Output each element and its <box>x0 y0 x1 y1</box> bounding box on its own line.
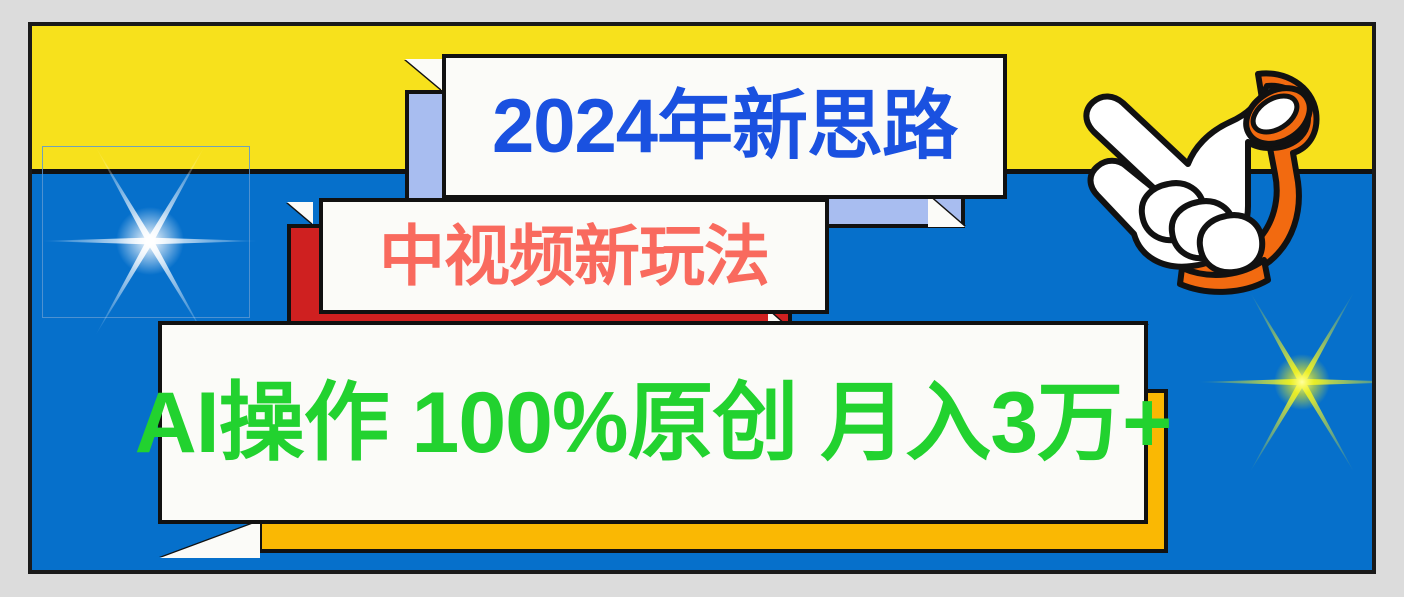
banner-new-idea-fold-top-left <box>405 59 442 90</box>
banner-new-play-fold-top-left <box>287 202 313 224</box>
yellow-sparkle-icon <box>1192 282 1376 482</box>
banner-new-idea-card: 2024年新思路 <box>442 54 1007 199</box>
banner-ai-income: AI操作 100%原创 月入3万+ <box>158 321 1168 561</box>
pointing-hand-icon <box>1062 56 1330 296</box>
banner-ai-income-fold-bottom-left <box>160 521 260 558</box>
banner-ai-income-card: AI操作 100%原创 月入3万+ <box>158 321 1148 524</box>
banner-new-play-card: 中视频新玩法 <box>319 198 829 314</box>
banner-new-idea-text: 2024年新思路 <box>492 89 957 165</box>
banner-new-idea-fold-bottom-right <box>928 195 965 227</box>
poster-canvas: 2024年新思路 中视频新玩法 AI操作 100%原创 月入3万+ <box>28 22 1376 574</box>
banner-new-play: 中视频新玩法 <box>287 198 847 338</box>
poster-frame: 2024年新思路 中视频新玩法 AI操作 100%原创 月入3万+ <box>0 0 1404 597</box>
banner-ai-income-text: AI操作 100%原创 月入3万+ <box>135 380 1172 466</box>
banner-new-play-text: 中视频新玩法 <box>379 223 769 289</box>
